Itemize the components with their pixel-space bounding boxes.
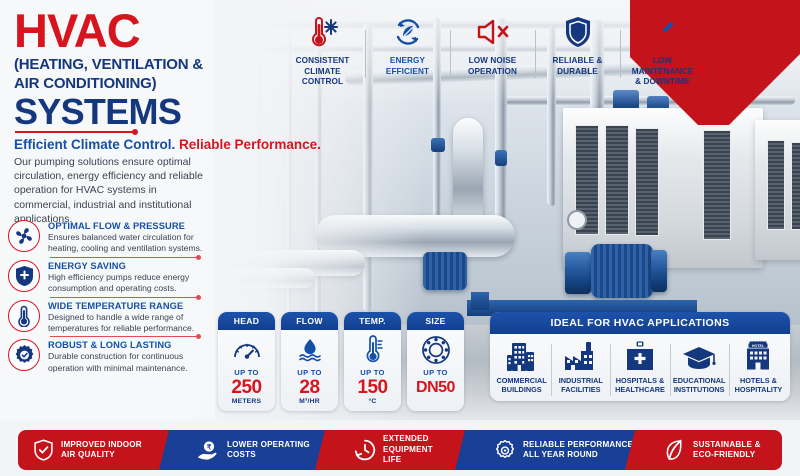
spec-up-to: UP TO [281, 368, 338, 377]
application-hotels-hospitality: HOTEL ★★★★ HOTELS & [729, 339, 788, 395]
thermometer-icon [8, 300, 40, 332]
feature-desc: High efficiency pumps reduce energy cons… [48, 272, 213, 295]
gauge-icon [218, 335, 275, 365]
benefit-reliable-durable: RELIABLE & DURABLE [535, 12, 620, 88]
strip-label-line2: AIR QUALITY [61, 450, 115, 459]
mute-speaker-icon [454, 12, 531, 52]
spec-value: 150 [344, 377, 401, 398]
hospital-icon [612, 339, 667, 373]
application-label-line2: FACILITIES [561, 385, 600, 394]
strip-label-line1: EXTENDED EQUIPMENT [383, 434, 433, 454]
spec-value: 250 [218, 377, 275, 398]
shield-icon [539, 12, 616, 52]
benefit-label-line1: CONSISTENT [296, 56, 350, 65]
svg-text:₹: ₹ [207, 443, 212, 451]
application-label-line1: HOTELS & [740, 376, 777, 385]
application-label-line2: BUILDINGS [502, 385, 542, 394]
application-label-line2: INSTITUTIONS [674, 385, 725, 394]
title-expansion-line2: AIR CONDITIONING) [14, 75, 279, 92]
infographic-root: HVAC (HEATING, VENTILATION & AIR CONDITI… [0, 0, 800, 476]
office-building-icon [494, 339, 549, 373]
benefit-low-noise-operation: LOW NOISE OPERATION [450, 12, 535, 88]
benefit-label-line1: ENERGY [390, 56, 425, 65]
thermometer-icon [344, 335, 401, 365]
spec-up-to: UP TO [218, 368, 275, 377]
gear-check-icon [8, 339, 40, 371]
benefit-label-line2: & DOWNTIME [635, 77, 690, 86]
application-educational-institutions: EDUCATIONAL INSTITUTIONS [670, 339, 729, 395]
feature-optimal-flow-pressure: OPTIMAL FLOW & PRESSURE Ensures balanced… [8, 220, 213, 255]
spec-value: 28 [281, 377, 338, 398]
benefit-label-line2: OPERATION [468, 67, 517, 76]
feature-desc: Designed to handle a wide range of tempe… [48, 312, 213, 335]
thermometer-snowflake-icon [284, 12, 361, 52]
spec-unit: °C [344, 398, 401, 405]
tagline-part-2: Reliable Performance. [179, 137, 321, 152]
feature-title: ENERGY SAVING [48, 261, 213, 271]
spec-header: HEAD [218, 312, 275, 330]
shield-plus-icon [8, 260, 40, 292]
shield-check-icon [32, 439, 54, 461]
application-label-line1: INDUSTRIAL [559, 376, 603, 385]
svg-text:HOTEL: HOTEL [752, 344, 765, 348]
clock-icon [354, 439, 376, 461]
spec-card-head: HEAD UP TO 250 METERS [218, 312, 275, 411]
title-underline-rule [15, 131, 135, 133]
strip-label-line2: LIFE [383, 455, 401, 464]
application-hospitals-healthcare: HOSPITALS & HEALTHCARE [610, 339, 669, 395]
title-systems: SYSTEMS [14, 93, 279, 131]
tagline: Efficient Climate Control. Reliable Perf… [14, 137, 321, 152]
benefit-low-maintenance-downtime: LOW MAINTENANCE & DOWNTIME [620, 12, 705, 88]
strip-label-line1: LOWER OPERATING [227, 440, 310, 449]
spec-unit: M³/HR [281, 398, 338, 405]
application-label-line2: HEALTHCARE [615, 385, 665, 394]
svg-text:★★★★: ★★★★ [752, 340, 764, 344]
strip-item-sustainable-eco-friendly: SUSTAINABLE & ECO-FRIENDLY [650, 430, 782, 470]
strip-label-line1: RELIABLE PERFORMANCE [523, 440, 633, 449]
application-commercial-buildings: COMMERCIAL BUILDINGS [492, 339, 551, 395]
feature-robust-long-lasting: ROBUST & LONG LASTING Durable constructi… [8, 339, 213, 374]
feature-desc: Ensures balanced water circulation for h… [48, 232, 213, 255]
spec-up-to: UP TO [344, 368, 401, 377]
leaf-recycle-icon [369, 12, 446, 52]
benefit-energy-efficient: ENERGY EFFICIENT [365, 12, 450, 88]
application-label-line1: HOSPITALS & [616, 376, 665, 385]
factory-icon [553, 339, 608, 373]
spec-unit: METERS [218, 398, 275, 405]
spec-up-to: UP TO [407, 368, 464, 377]
benefit-label-line2: DURABLE [557, 67, 598, 76]
spec-card-size: SIZE UP TO DN50 [407, 312, 464, 411]
strip-label-line1: IMPROVED INDOOR [61, 440, 142, 449]
feature-wide-temperature-range: WIDE TEMPERATURE RANGE Designed to handl… [8, 300, 213, 335]
intro-paragraph: Our pumping solutions ensure optimal cir… [14, 155, 214, 226]
benefit-label-line2: CLIMATE CONTROL [302, 67, 343, 87]
water-drop-icon [281, 335, 338, 365]
spec-card-flow: FLOW UP TO 28 M³/HR [281, 312, 338, 411]
strip-label-line2: COSTS [227, 450, 256, 459]
hotel-icon: HOTEL ★★★★ [731, 339, 786, 373]
spec-header: TEMP. [344, 312, 401, 330]
feature-title: WIDE TEMPERATURE RANGE [48, 301, 213, 311]
strip-label-line2: ALL YEAR ROUND [523, 450, 598, 459]
benefit-label-line1: RELIABLE & [552, 56, 602, 65]
spec-cards: HEAD UP TO 250 METERS FLO [218, 312, 464, 411]
application-label-line1: COMMERCIAL [496, 376, 546, 385]
feature-energy-saving: ENERGY SAVING High efficiency pumps redu… [8, 260, 213, 295]
leaf-icon [664, 439, 686, 461]
strip-item-reliable-performance-all-year-round: RELIABLE PERFORMANCE ALL YEAR ROUND [480, 430, 650, 470]
application-industrial-facilities: INDUSTRIAL FACILITIES [551, 339, 610, 395]
spec-value: DN50 [407, 377, 464, 398]
feature-title: OPTIMAL FLOW & PRESSURE [48, 221, 213, 231]
tagline-part-1: Efficient Climate Control. [14, 137, 175, 152]
title-hvac: HVAC [14, 8, 279, 54]
application-label-line1: EDUCATIONAL [673, 376, 726, 385]
spec-card-temp: TEMP. UP TO 150 °C [344, 312, 401, 411]
strip-item-improved-indoor-air-quality: IMPROVED INDOOR AIR QUALITY [18, 430, 184, 470]
feature-list: OPTIMAL FLOW & PRESSURE Ensures balanced… [8, 220, 213, 379]
applications-header: IDEAL FOR HVAC APPLICATIONS [490, 312, 790, 334]
fan-icon [8, 220, 40, 252]
wrench-screwdriver-icon [624, 12, 701, 52]
graduation-cap-icon [672, 339, 727, 373]
benefit-consistent-climate-control: CONSISTENT CLIMATE CONTROL [280, 12, 365, 88]
gear-icon [494, 439, 516, 461]
benefit-label-line2: EFFICIENT [386, 67, 429, 76]
spec-header: FLOW [281, 312, 338, 330]
application-label-line2: HOSPITALITY [735, 385, 783, 394]
spec-header: SIZE [407, 312, 464, 330]
feature-title: ROBUST & LONG LASTING [48, 340, 213, 350]
benefit-label-line1: LOW MAINTENANCE [632, 56, 694, 76]
strip-label-line1: SUSTAINABLE & [693, 440, 761, 449]
strip-label-line2: ECO-FRIENDLY [693, 450, 755, 459]
flange-icon [407, 335, 464, 365]
benefit-label-line1: LOW NOISE [469, 56, 517, 65]
title-expansion-line1: (HEATING, VENTILATION & [14, 56, 279, 73]
benefit-icon-row: CONSISTENT CLIMATE CONTROL ENERGY [280, 12, 705, 88]
bottom-benefit-strip: IMPROVED INDOOR AIR QUALITY ₹ LOWER OPE [18, 430, 782, 470]
hand-coin-icon: ₹ [198, 439, 220, 461]
feature-desc: Durable construction for continuous oper… [48, 351, 213, 374]
page-title: HVAC (HEATING, VENTILATION & AIR CONDITI… [14, 8, 279, 131]
applications-panel: IDEAL FOR HVAC APPLICATIONS [490, 312, 790, 401]
